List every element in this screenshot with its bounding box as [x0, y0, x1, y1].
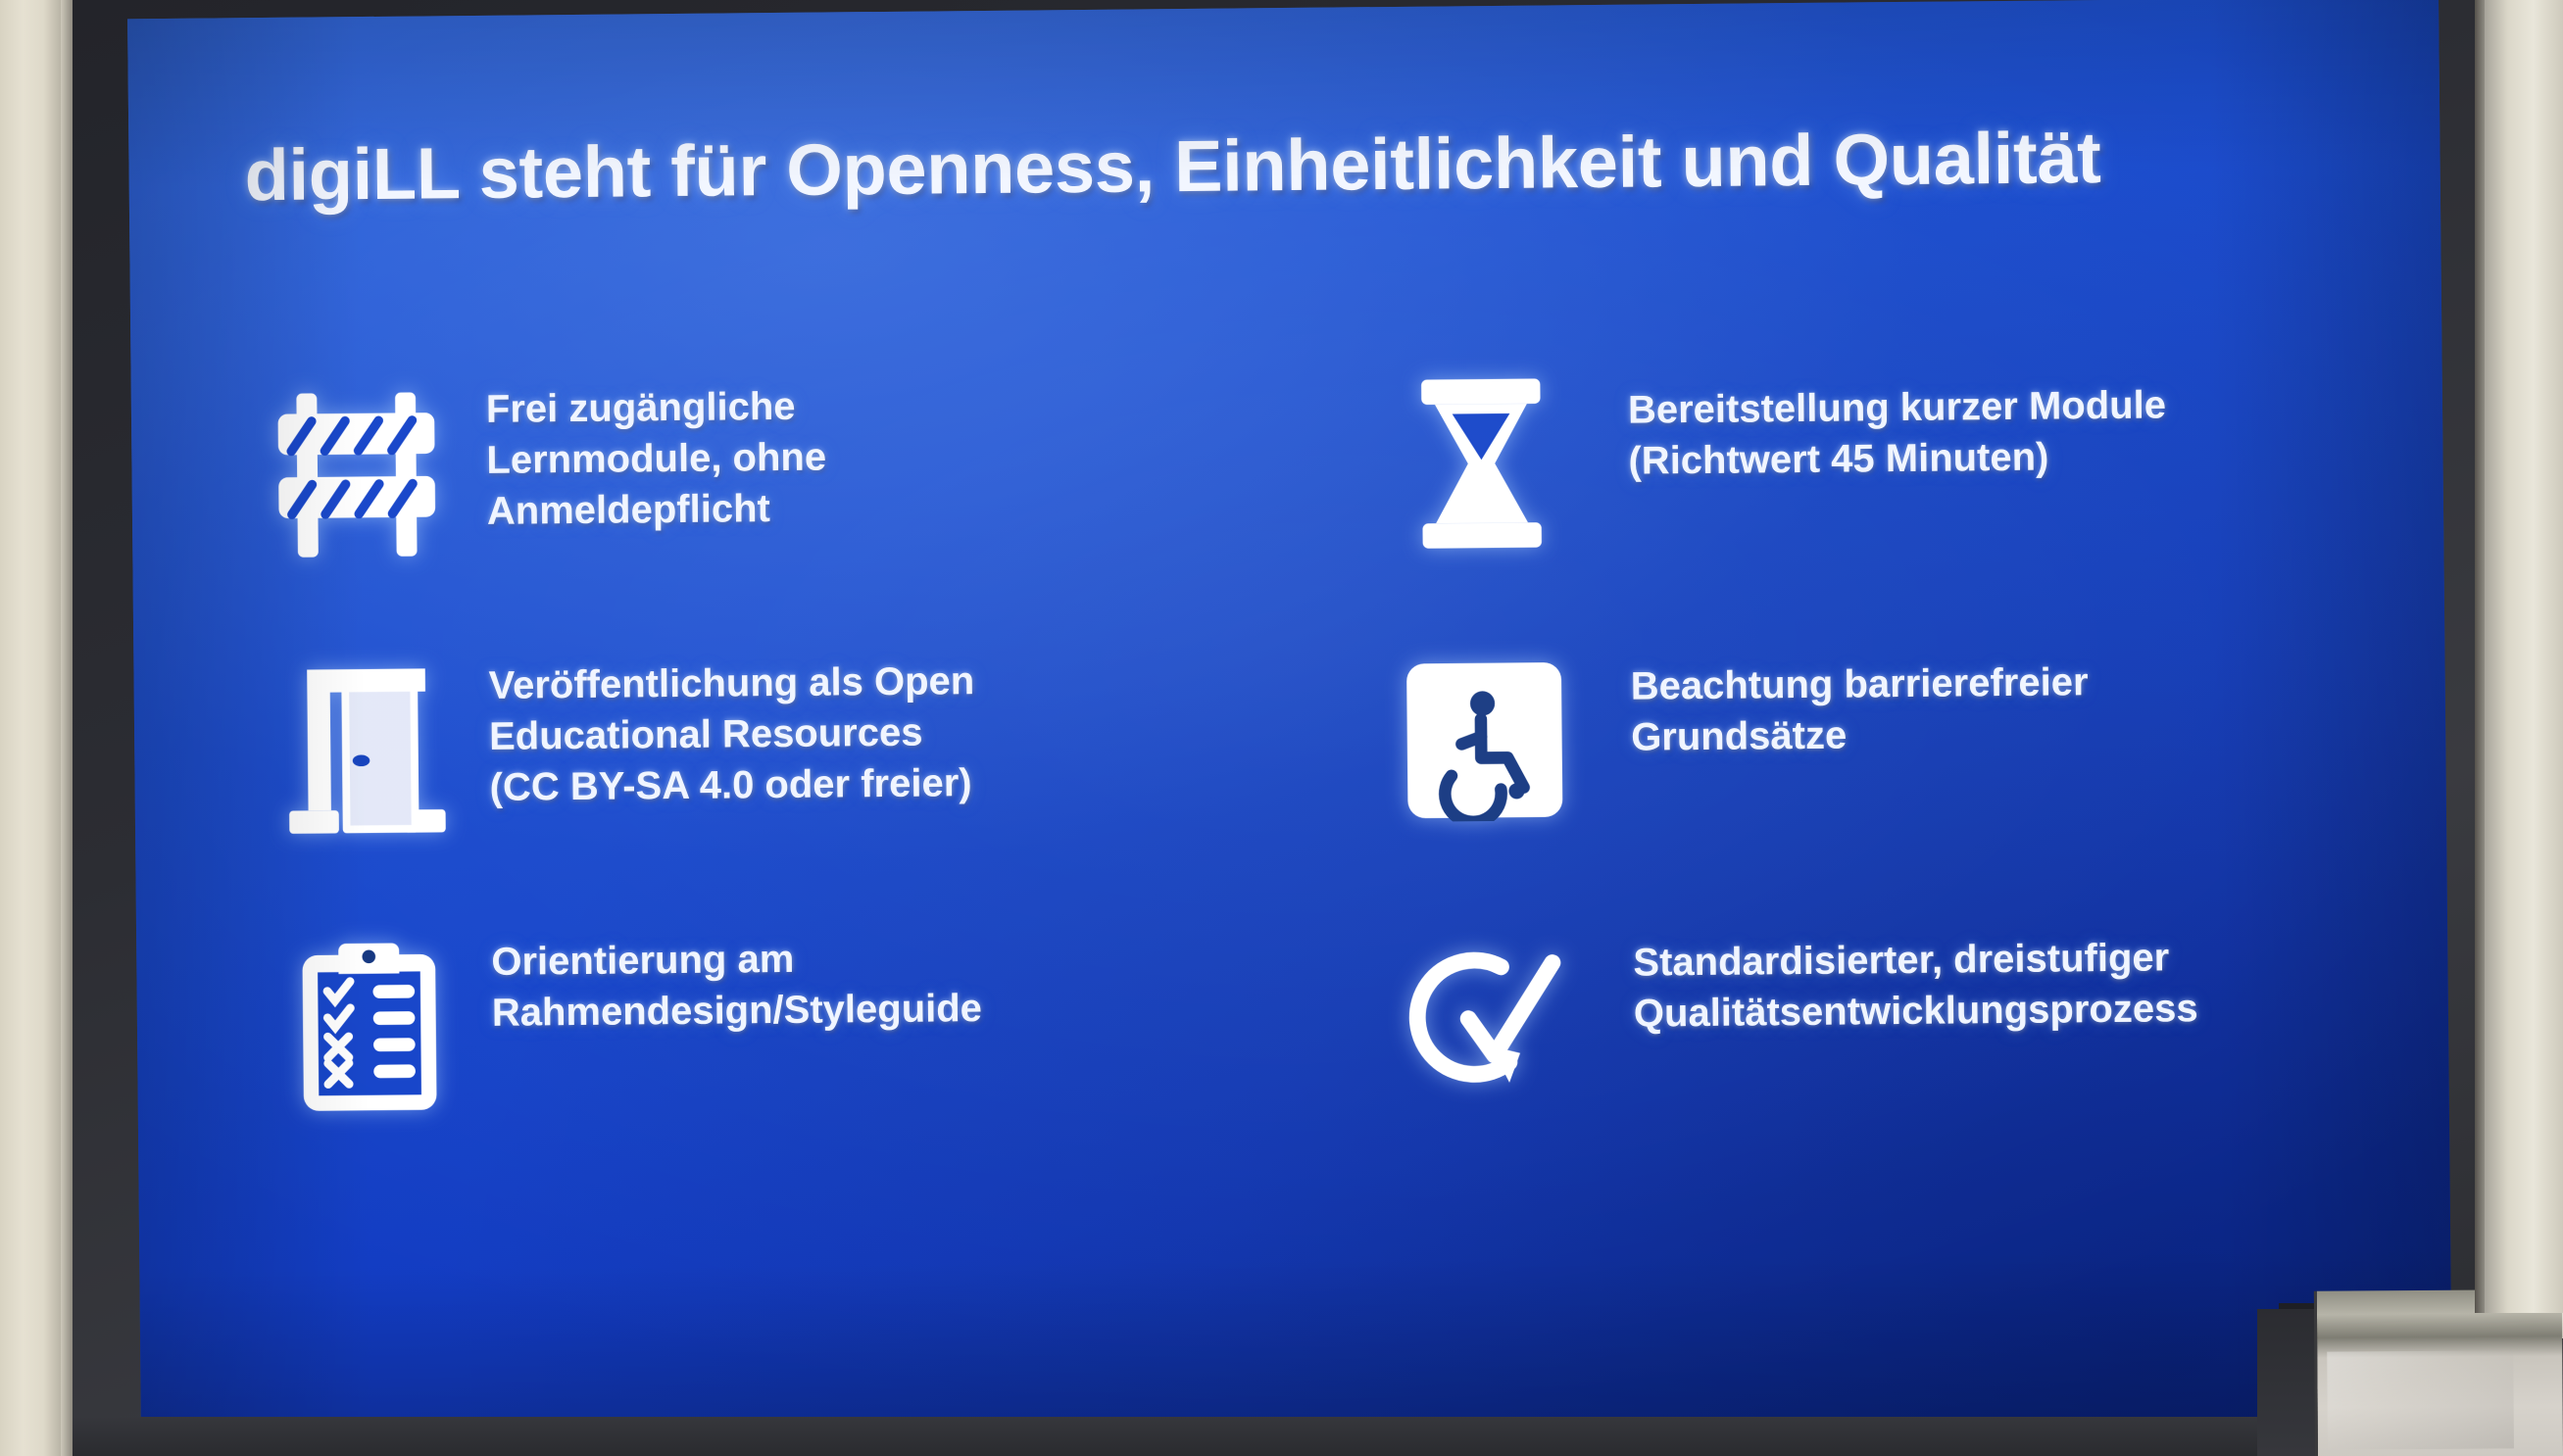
list-item: Veröffentlichung als Open Educational Re… — [243, 639, 1270, 925]
wall-right-edge — [2475, 0, 2485, 1313]
list-item: Beachtung barrierefreier Grundsätze — [1336, 629, 2363, 915]
page-title: digiLL steht für Openness, Einheitlichke… — [244, 114, 2352, 218]
list-item-label: Veröffentlichung als Open Educational Re… — [488, 639, 1269, 813]
wall-left-edge — [61, 0, 73, 1456]
feature-grid: Frei zugängliche Lernmodule, ohne Anmeld… — [241, 353, 2366, 1202]
paper-sheen — [2327, 1350, 2514, 1449]
list-item: Frei zugängliche Lernmodule, ohne Anmeld… — [241, 363, 1268, 649]
clipboard-checklist-icon — [246, 923, 493, 1131]
list-item-label: Orientierung am Rahmendesign/Styleguide — [491, 915, 1271, 1039]
hourglass-icon — [1334, 360, 1630, 568]
floor-shadow-band — [73, 1417, 2327, 1456]
list-item-label: Bereitstellung kurzer Module (Richtwert … — [1627, 353, 2358, 487]
list-item: Orientierung am Rahmendesign/Styleguide — [246, 915, 1273, 1201]
list-item-label: Standardisierter, dreistufiger Qualitäts… — [1633, 904, 2364, 1039]
list-item-label: Beachtung barrierefreier Grundsätze — [1630, 629, 2361, 763]
projected-slide-area: digiLL steht für Openness, Einheitlichke… — [127, 0, 2452, 1441]
refresh-check-icon — [1339, 912, 1635, 1121]
foreground-flipchart-paper — [2314, 1289, 2563, 1456]
foreground-dark-strip — [2257, 1309, 2318, 1456]
list-item: Standardisierter, dreistufiger Qualitäts… — [1339, 904, 2366, 1190]
lecture-room-photo: digiLL steht für Openness, Einheitlichke… — [0, 0, 2563, 1456]
open-door-icon — [243, 647, 490, 854]
wall-left-surface — [0, 0, 61, 1456]
wall-right-surface — [2485, 0, 2563, 1313]
wheelchair-accessibility-icon — [1336, 636, 1632, 845]
barrier-icon — [241, 370, 488, 578]
presentation-slide: digiLL steht für Openness, Einheitlichke… — [127, 0, 2452, 1441]
list-item: Bereitstellung kurzer Module (Richtwert … — [1334, 353, 2361, 639]
list-item-label: Frei zugängliche Lernmodule, ohne Anmeld… — [486, 363, 1267, 537]
